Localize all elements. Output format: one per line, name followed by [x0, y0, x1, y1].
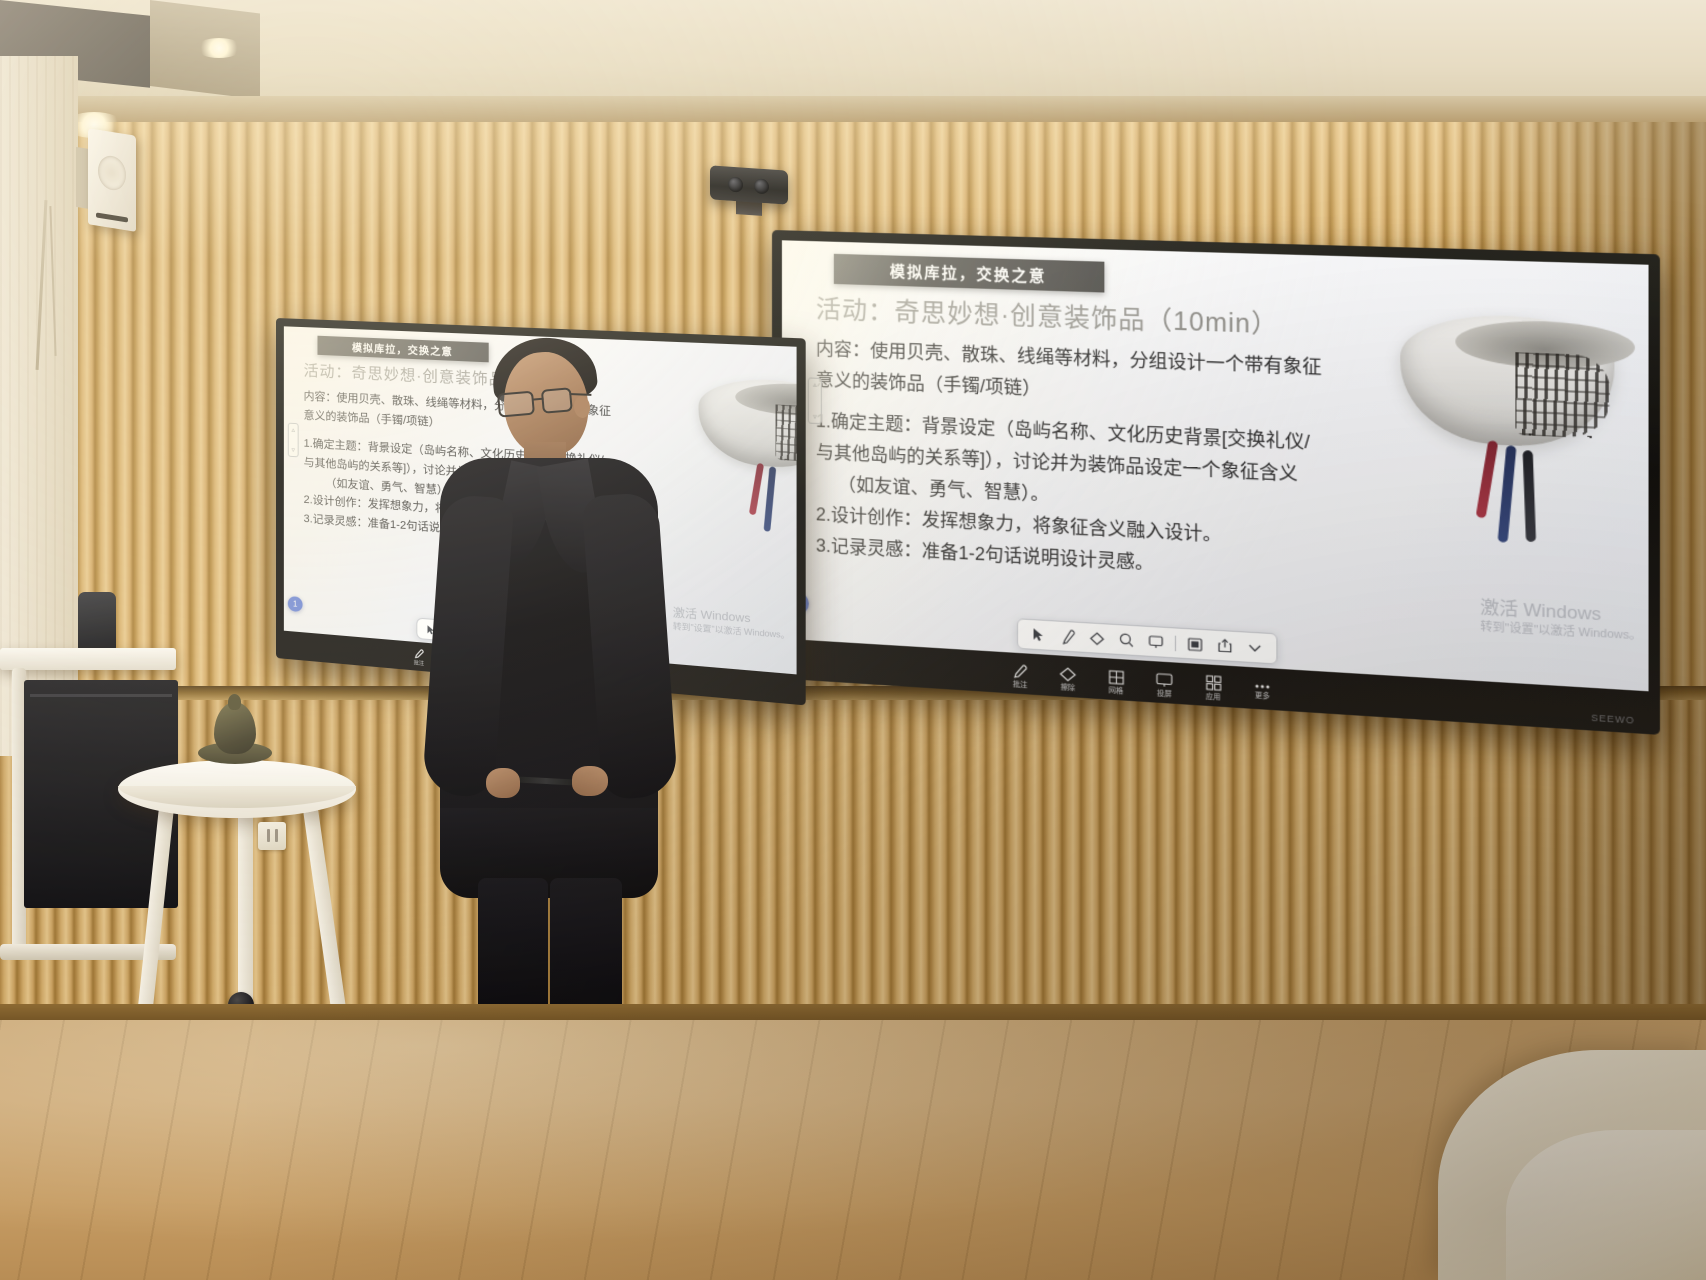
scroll-down-icon-left[interactable]: ▿	[291, 446, 294, 454]
page-icon[interactable]	[1180, 632, 1210, 657]
av-cart-top	[0, 648, 176, 670]
bezel-eraser-label: 擦除	[1061, 682, 1076, 693]
table-leg-center	[238, 804, 253, 1004]
annotation-toolbar[interactable]	[1017, 618, 1277, 664]
bezel-monitor-icon[interactable]: 投屏	[1140, 668, 1189, 704]
conference-camera	[710, 165, 788, 204]
bracelet-tassel-left	[784, 459, 796, 513]
downlight-2	[196, 38, 242, 58]
display-right-screen[interactable]: 模拟库拉，交换之意 活动：奇思妙想·创意装饰品（10min） 内容：使用贝壳、散…	[782, 240, 1649, 691]
glasses-lens-left	[497, 391, 535, 418]
presenter-hand-right	[572, 766, 608, 796]
speaker-cone-icon	[98, 154, 126, 192]
bezel-apps-label: 应用	[1206, 691, 1221, 702]
cursor-icon[interactable]	[1024, 623, 1053, 647]
av-cart-cabinet-seam	[30, 694, 172, 697]
bead-strand-navy-left	[764, 466, 777, 532]
toolbar-divider	[1175, 635, 1176, 651]
bezel-more-label: 更多	[1255, 690, 1270, 701]
bead-strand-red-left	[749, 463, 764, 516]
bezel-pen-icon[interactable]: 批注	[996, 659, 1044, 695]
bezel-pen-label-left: 批注	[414, 659, 424, 667]
chevron-down-icon[interactable]	[1240, 635, 1270, 660]
glasses-lens-right	[541, 387, 573, 414]
bracelet-tassel	[1529, 433, 1592, 512]
bead-strand-red	[1476, 440, 1499, 519]
page-badge-left[interactable]: 1	[288, 596, 303, 612]
bead-strand-navy	[1498, 445, 1517, 543]
share-icon[interactable]	[1210, 634, 1240, 659]
bezel-eraser-icon[interactable]: 擦除	[1044, 662, 1092, 698]
bracelet-ink-pattern-left	[775, 404, 796, 463]
glasses-temple	[569, 393, 591, 396]
draped-cloth-fold	[1506, 1130, 1706, 1280]
scroll-widget-second[interactable]: ▵ ▿	[808, 377, 822, 424]
bezel-more-icon[interactable]: 更多	[1238, 674, 1287, 710]
interactive-display-right[interactable]: 模拟库拉，交换之意 活动：奇思妙想·创意装饰品（10min） 内容：使用贝壳、散…	[772, 230, 1660, 735]
scroll-widget-left-display[interactable]: ▵ ▿	[288, 423, 299, 458]
wall-outlet[interactable]	[258, 822, 286, 850]
presenter-hand-left	[486, 768, 520, 798]
slide-heading-main: 活动：奇思妙想·创意装饰品	[816, 295, 1146, 335]
windows-activation-watermark: 激活 Windows 转到"设置"以激活 Windows。	[1480, 596, 1641, 644]
bezel-grid-label: 网格	[1109, 685, 1124, 696]
ceiling-edge	[0, 96, 1706, 122]
classroom-scene: 模拟库拉，交换之意 活动：奇思妙想·创意装饰品（10min） 内容：使用贝壳、散…	[0, 0, 1706, 1280]
bracelet-photo	[1363, 311, 1642, 641]
display-icon[interactable]	[1141, 630, 1171, 654]
outlet-slot-left	[267, 829, 270, 842]
cart-speaker	[78, 592, 116, 654]
camera-lens-secondary-icon	[754, 178, 769, 194]
bracelet-ink-pattern	[1515, 352, 1610, 439]
slide-title-bar: 模拟库拉，交换之意	[834, 254, 1105, 293]
bezel-apps-icon[interactable]: 应用	[1189, 671, 1238, 707]
ornament-finial	[228, 694, 241, 710]
camera-lens-icon	[728, 177, 743, 193]
slide-heading-duration: （10min）	[1146, 306, 1279, 340]
scroll-up-icon-2[interactable]: ▵	[813, 381, 817, 389]
pen-icon[interactable]	[1053, 624, 1082, 648]
speaker-port	[96, 212, 128, 222]
scroll-down-icon-2[interactable]: ▿	[813, 413, 817, 421]
coat-hem	[440, 808, 658, 898]
bezel-pen-label: 批注	[1013, 679, 1027, 690]
presenter	[424, 330, 724, 1120]
bezel-grid-icon[interactable]: 网格	[1092, 665, 1140, 701]
scroll-up-icon-left[interactable]: ▵	[291, 426, 294, 434]
search-icon[interactable]	[1112, 628, 1141, 652]
outlet-slot-right	[275, 829, 278, 842]
bezel-monitor-label: 投屏	[1157, 688, 1172, 699]
slide-title-text: 模拟库拉，交换之意	[890, 260, 1047, 286]
eraser-icon[interactable]	[1082, 626, 1111, 650]
wall-speaker	[88, 128, 136, 232]
